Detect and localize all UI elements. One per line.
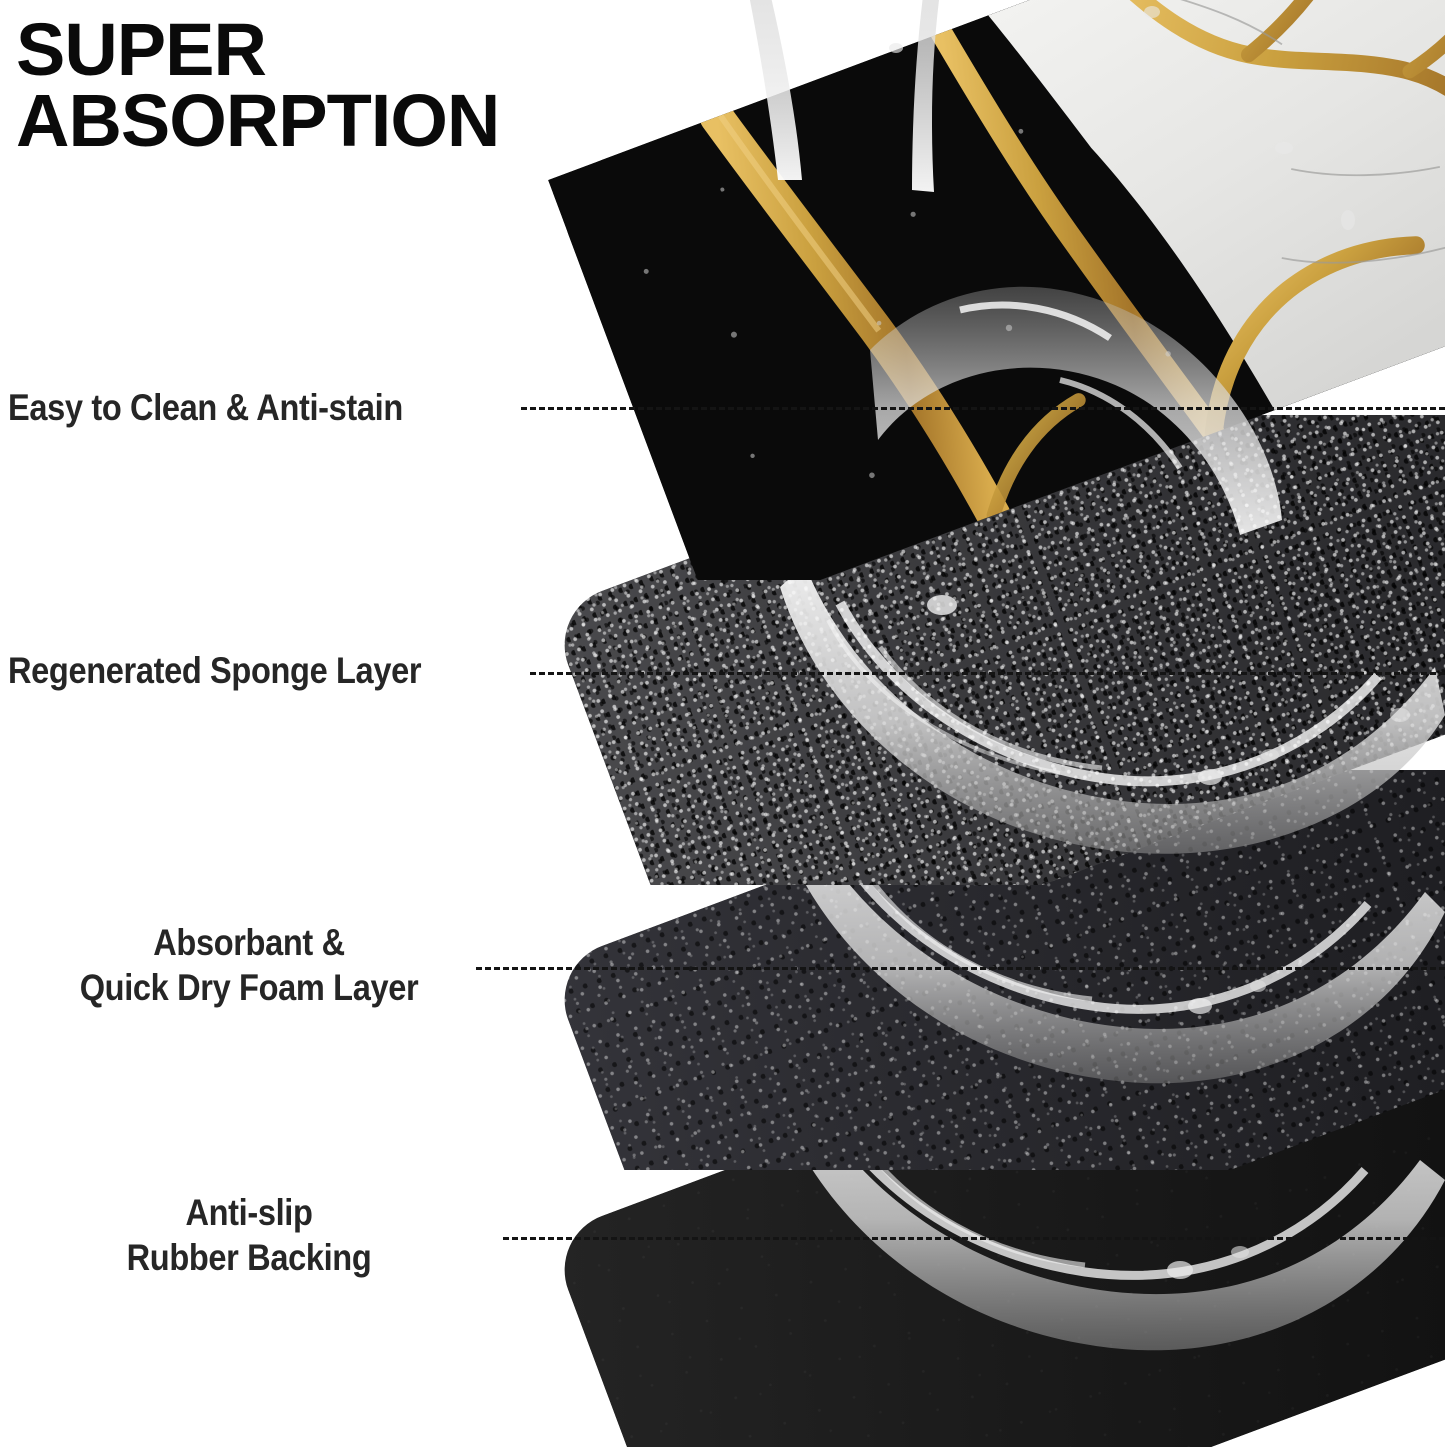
callout-label-sponge-layer: Regenerated Sponge Layer <box>8 648 421 693</box>
leader-line-sponge-layer <box>530 672 1445 675</box>
callout-label-easy-clean: Easy to Clean & Anti-stain <box>8 385 403 430</box>
callout-label-rubber-backing: Anti-slip Rubber Backing <box>42 1190 456 1280</box>
leader-line-rubber-backing <box>503 1237 1445 1240</box>
leader-line-foam-layer <box>476 967 1445 970</box>
product-infographic: SUPER ABSORPTION Easy to Clean & Anti-st… <box>0 0 1445 1447</box>
leader-line-easy-clean <box>521 407 1445 410</box>
layer-marble-top-surface <box>540 0 1445 580</box>
callout-label-foam-layer: Absorbant & Quick Dry Foam Layer <box>42 920 456 1010</box>
marble-pattern <box>548 0 1445 580</box>
page-title: SUPER ABSORPTION <box>16 14 636 156</box>
marble-slab-surface <box>548 0 1445 580</box>
